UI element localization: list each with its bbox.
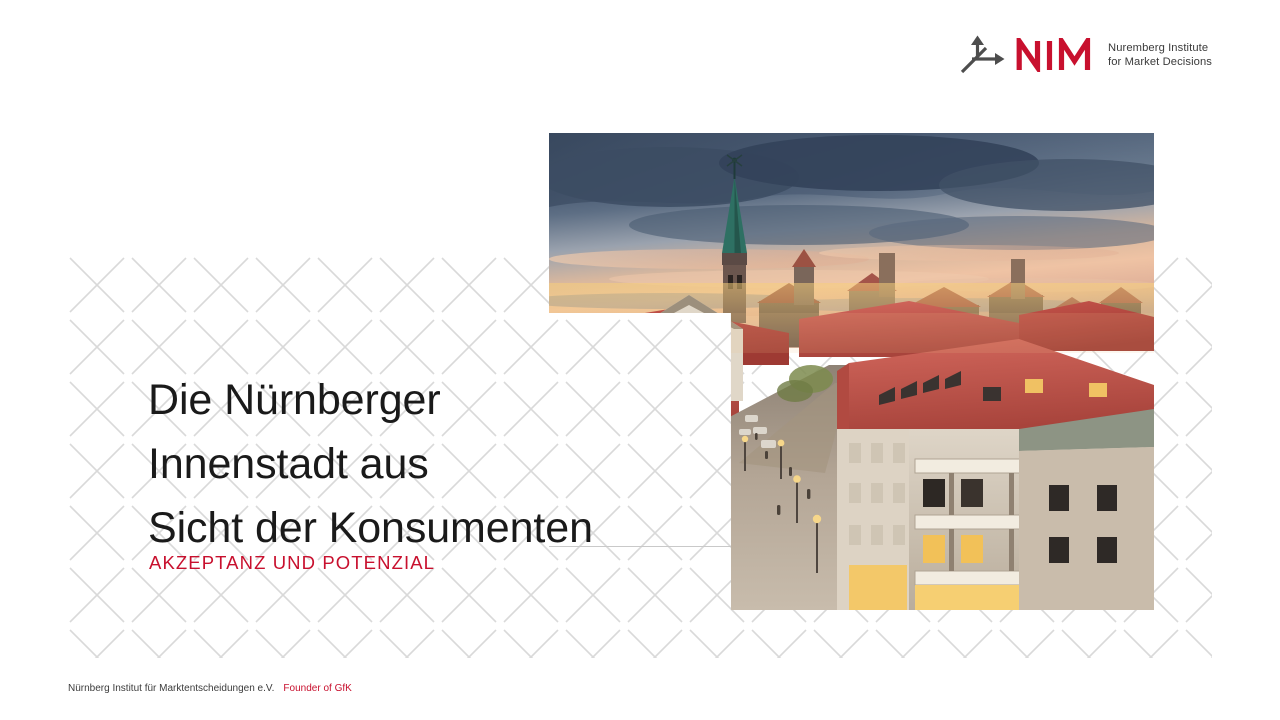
title-slide: Nuremberg Institute for Market Decisions (0, 0, 1280, 720)
nim-logo: Nuremberg Institute for Market Decisions (960, 33, 1212, 77)
logo-subtitle-line1: Nuremberg Institute (1108, 42, 1208, 54)
nim-wordmark (1015, 38, 1097, 72)
page-subtitle: AKZEPTANZ UND POTENZIAL (149, 551, 435, 575)
logo-subtitle-line2: for Market Decisions (1108, 55, 1212, 69)
footer-institute: Nürnberg Institut für Marktentscheidunge… (68, 682, 274, 695)
title-line-2: Innenstadt aus (148, 432, 568, 496)
page-title: Die Nürnberger Innenstadt aus Sicht der … (148, 368, 568, 560)
footer: Nürnberg Institut für Marktentscheidunge… (68, 682, 352, 695)
footer-founder: Founder of GfK (283, 682, 351, 695)
logo-subtitle: Nuremberg Institute for Market Decisions (1108, 41, 1212, 69)
nim-arrows-icon (960, 34, 1006, 76)
nuremberg-old-town-dusk-photo (549, 133, 1154, 610)
title-line-1: Die Nürnberger (148, 368, 568, 432)
